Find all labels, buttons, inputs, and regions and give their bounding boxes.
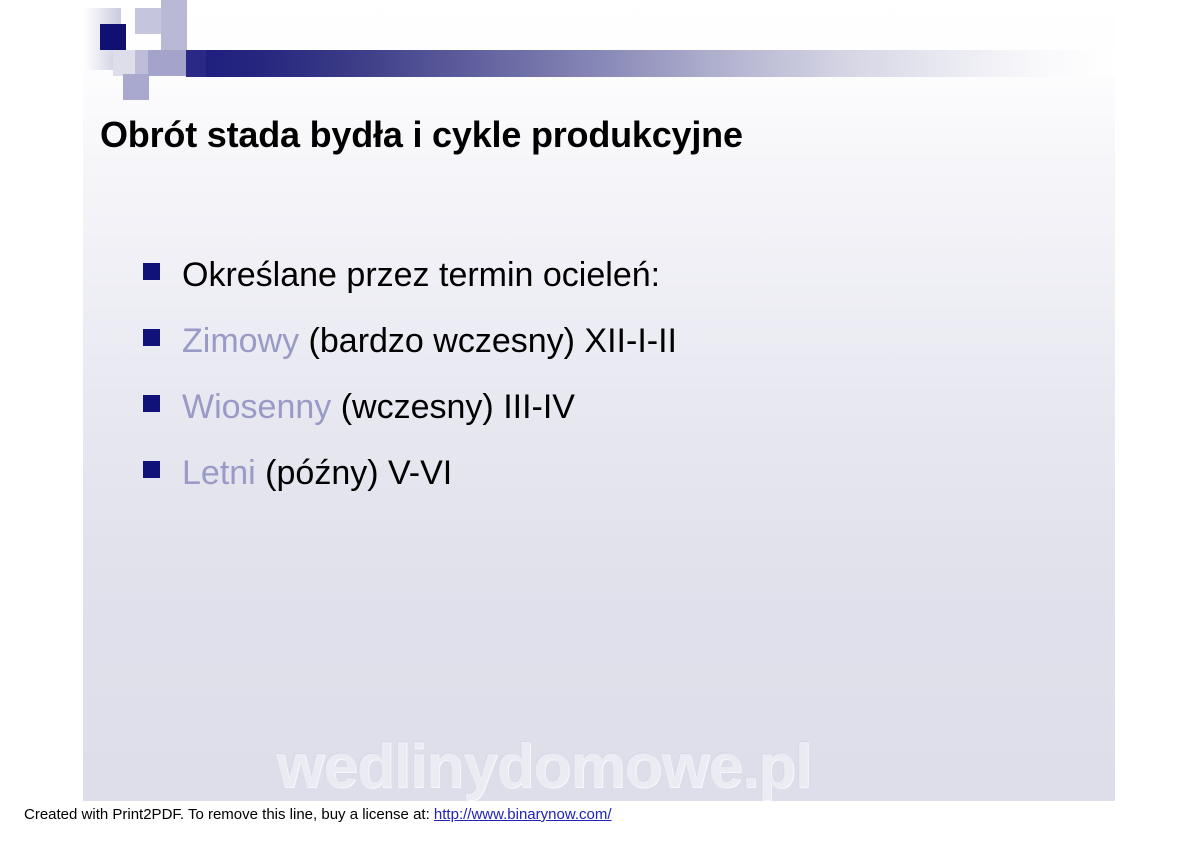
bullet-text: Zimowy (bardzo wczesny) XII-I-II bbox=[182, 324, 677, 358]
bullet-square-icon bbox=[143, 461, 160, 478]
bullet-text: Wiosenny (wczesny) III-IV bbox=[182, 390, 575, 424]
bullet-square-icon bbox=[143, 395, 160, 412]
bullet-text: Określane przez termin ocieleń: bbox=[182, 258, 660, 292]
slide-canvas: Obrót stada bydła i cykle produkcyjne Ok… bbox=[83, 0, 1115, 801]
bullet-rest-text: (bardzo wczesny) XII-I-II bbox=[299, 322, 677, 360]
pdf-footer-band: Created with Print2PDF. To remove this l… bbox=[0, 801, 1200, 849]
footer-notice: Created with Print2PDF. To remove this l… bbox=[24, 806, 612, 823]
footer-license-link[interactable]: http://www.binarynow.com/ bbox=[434, 806, 612, 823]
bullet-accent-word: Zimowy bbox=[182, 322, 299, 360]
decoration-square-pale bbox=[148, 50, 186, 76]
bullet-rest-text: Określane przez termin ocieleń: bbox=[182, 256, 660, 294]
list-item: Określane przez termin ocieleń: bbox=[143, 258, 1083, 324]
decoration-square-dark bbox=[100, 24, 126, 50]
decoration-square-low bbox=[123, 74, 149, 100]
slide-title: Obrót stada bydła i cykle produkcyjne bbox=[100, 114, 1080, 156]
list-item: Zimowy (bardzo wczesny) XII-I-II bbox=[143, 324, 1083, 390]
decoration-square-tall bbox=[161, 0, 187, 50]
bullet-text: Letni (późny) V-VI bbox=[182, 456, 452, 490]
watermark: wedlinydomowe.pl bbox=[276, 731, 811, 801]
bullet-rest-text: (wczesny) III-IV bbox=[331, 388, 575, 426]
bullet-rest-text: (późny) V-VI bbox=[256, 454, 453, 492]
list-item: Wiosenny (wczesny) III-IV bbox=[143, 390, 1083, 456]
bullet-square-icon bbox=[143, 263, 160, 280]
footer-notice-text: Created with Print2PDF. To remove this l… bbox=[24, 806, 434, 823]
header-gradient-bar bbox=[206, 50, 1115, 77]
bullet-square-icon bbox=[143, 329, 160, 346]
bullet-accent-word: Letni bbox=[182, 454, 256, 492]
bullet-list: Określane przez termin ocieleń: Zimowy (… bbox=[143, 258, 1083, 522]
header-decoration bbox=[83, 0, 1115, 110]
decoration-square-mid-top bbox=[135, 8, 161, 34]
bullet-accent-word: Wiosenny bbox=[182, 388, 331, 426]
list-item: Letni (późny) V-VI bbox=[143, 456, 1083, 522]
